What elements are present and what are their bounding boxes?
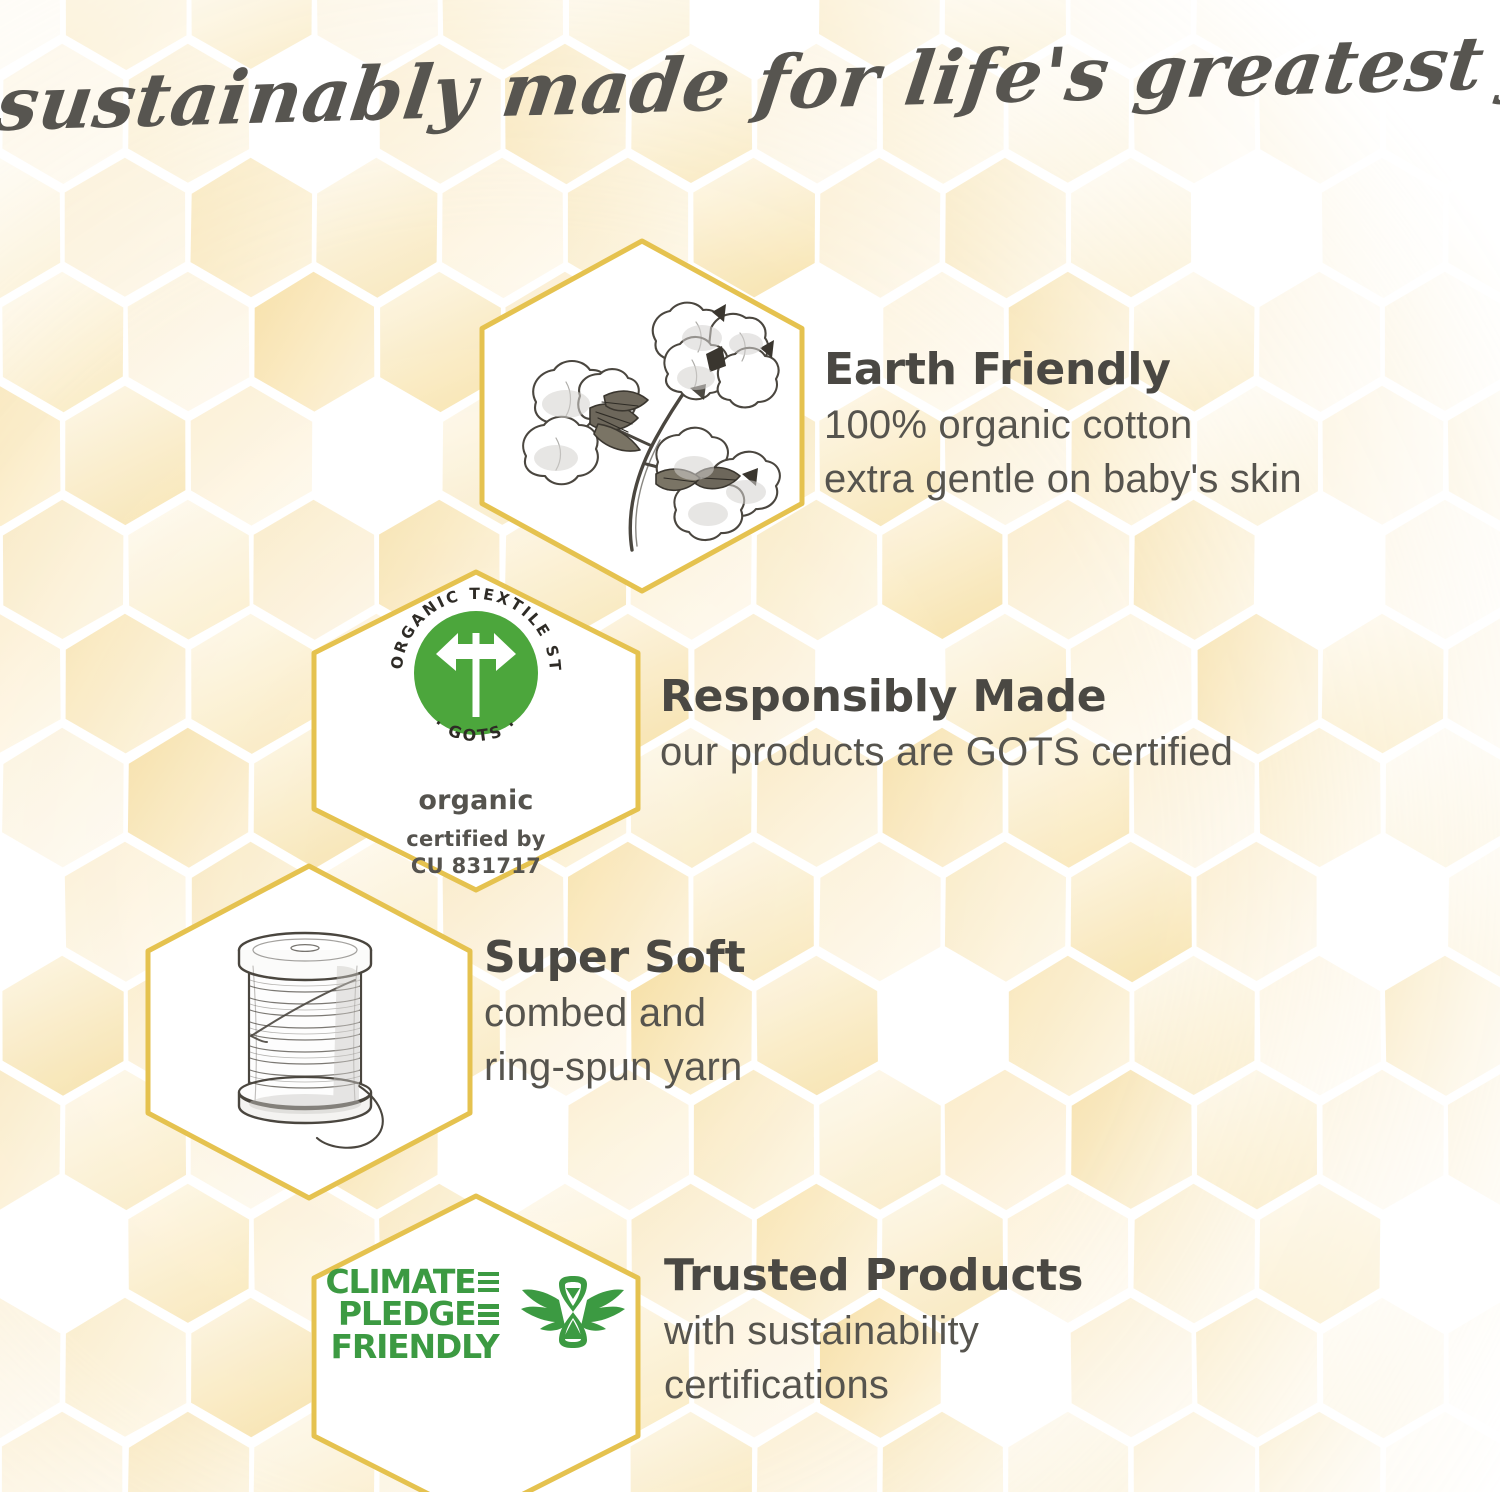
gots-certification-icon: GLOBAL ORGANIC TEXTILE STANDARD · GOTS ·… <box>308 568 644 894</box>
feature-title: Earth Friendly <box>824 345 1302 394</box>
feature-line: combed and <box>484 986 745 1040</box>
feature-text-responsibly-made: Responsibly Made our products are GOTS c… <box>660 672 1233 779</box>
cpf-wordmark: CLIMATE PLEDGE FRIENDLY <box>326 1266 499 1363</box>
climate-pledge-friendly-icon: CLIMATE PLEDGE FRIENDLY <box>308 1192 644 1492</box>
gots-organic-label: organic <box>418 785 533 816</box>
thread-spool-sketch-icon <box>142 862 476 1202</box>
headline-text: sustainably made for life's greatest joy <box>0 17 1500 148</box>
promo-infographic: sustainably made for life's greatest joy… <box>0 0 1500 1492</box>
feature-title: Super Soft <box>484 933 745 982</box>
cpf-bars-icon <box>478 1272 499 1293</box>
feature-line: certifications <box>664 1358 1083 1412</box>
feature-line: our products are GOTS certified <box>660 725 1233 779</box>
cotton-plant-sketch-icon <box>472 236 812 596</box>
feature-hexagon-earth-friendly <box>472 236 812 596</box>
feature-hexagon-responsibly-made: GLOBAL ORGANIC TEXTILE STANDARD · GOTS ·… <box>308 568 644 894</box>
feature-line: ring-spun yarn <box>484 1040 745 1094</box>
cpf-line-2: PLEDGE <box>326 1298 499 1330</box>
gots-certified-by-label: certified by <box>406 826 546 852</box>
feature-hexagon-trusted-products: CLIMATE PLEDGE FRIENDLY <box>308 1192 644 1492</box>
feature-line: with sustainability <box>664 1304 1083 1358</box>
cpf-line-3: FRIENDLY <box>326 1331 499 1363</box>
headline-script: sustainably made for life's greatest joy… <box>0 21 1500 145</box>
winged-hourglass-icon <box>519 1272 627 1356</box>
feature-title: Trusted Products <box>664 1251 1083 1300</box>
feature-line: extra gentle on baby's skin <box>824 452 1302 506</box>
feature-line: 100% organic cotton <box>824 398 1302 452</box>
feature-title: Responsibly Made <box>660 672 1233 721</box>
page-title: sustainably made for life's greatest joy… <box>0 44 1500 122</box>
cpf-bars-icon <box>478 1304 499 1325</box>
gots-seal: GLOBAL ORGANIC TEXTILE STANDARD · GOTS · <box>378 575 574 771</box>
feature-text-earth-friendly: Earth Friendly 100% organic cotton extra… <box>824 345 1302 506</box>
feature-text-super-soft: Super Soft combed and ring-spun yarn <box>484 933 745 1094</box>
feature-text-trusted-products: Trusted Products with sustainability cer… <box>664 1251 1083 1412</box>
feature-hexagon-super-soft <box>142 862 476 1202</box>
